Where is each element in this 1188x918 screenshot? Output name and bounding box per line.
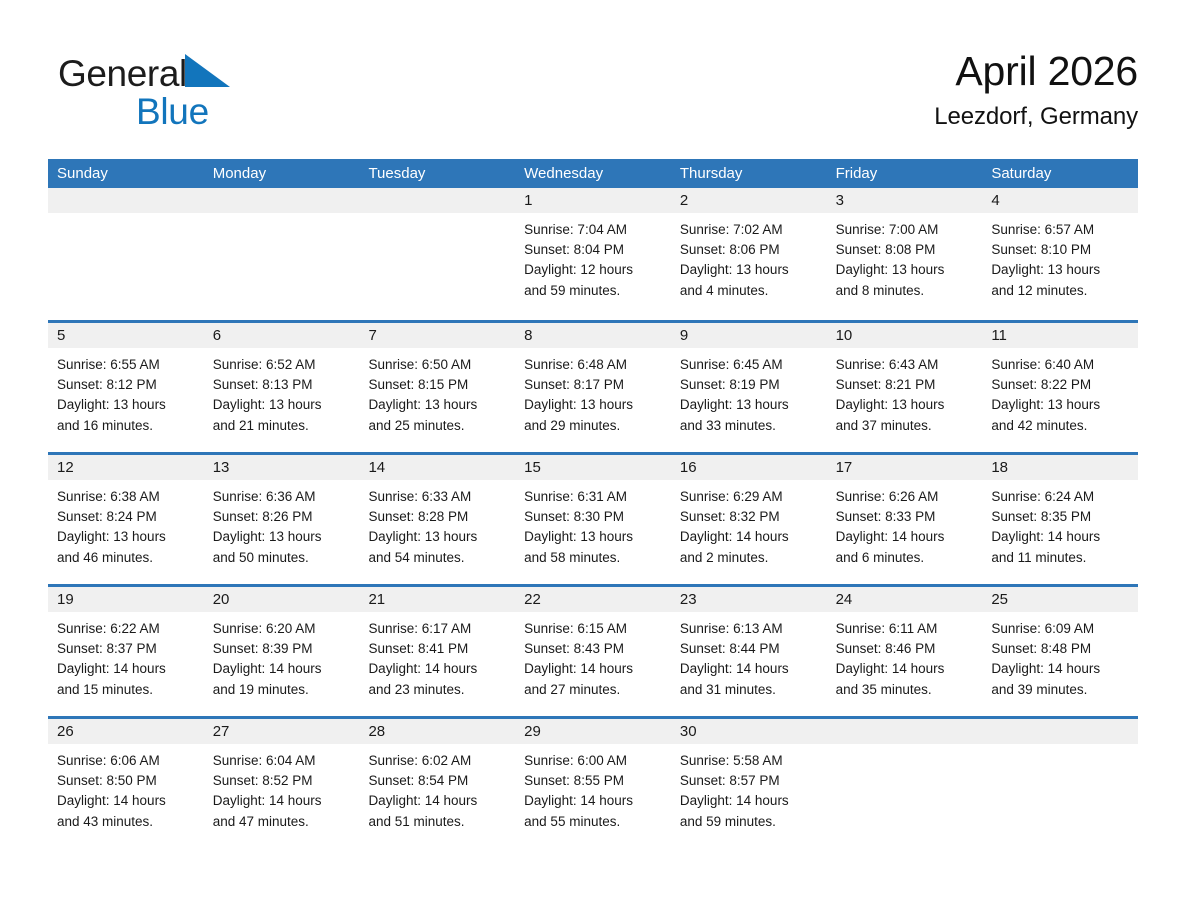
sunset-text: Sunset: 8:52 PM: [213, 771, 352, 791]
calendar-day-cell[interactable]: 12Sunrise: 6:38 AMSunset: 8:24 PMDayligh…: [48, 455, 204, 584]
day-details: Sunrise: 6:26 AMSunset: 8:33 PMDaylight:…: [827, 480, 983, 568]
weekday-header-monday: Monday: [204, 159, 360, 188]
calendar-day-cell[interactable]: 21Sunrise: 6:17 AMSunset: 8:41 PMDayligh…: [359, 587, 515, 716]
day-number: 20: [204, 587, 360, 612]
sunrise-text: Sunrise: 6:40 AM: [991, 355, 1130, 375]
day-details: Sunrise: 6:13 AMSunset: 8:44 PMDaylight:…: [671, 612, 827, 700]
calendar-week-row: 19Sunrise: 6:22 AMSunset: 8:37 PMDayligh…: [48, 584, 1138, 716]
daylight-text-line2: and 46 minutes.: [57, 548, 196, 568]
logo-word-blue: Blue: [136, 90, 209, 134]
sunset-text: Sunset: 8:43 PM: [524, 639, 663, 659]
sunset-text: Sunset: 8:35 PM: [991, 507, 1130, 527]
daylight-text-line2: and 6 minutes.: [836, 548, 975, 568]
day-number: 7: [359, 323, 515, 348]
day-details: Sunrise: 6:11 AMSunset: 8:46 PMDaylight:…: [827, 612, 983, 700]
day-number: 21: [359, 587, 515, 612]
daylight-text-line1: Daylight: 13 hours: [991, 260, 1130, 280]
sunset-text: Sunset: 8:54 PM: [368, 771, 507, 791]
sunrise-text: Sunrise: 6:33 AM: [368, 487, 507, 507]
day-number: 2: [671, 188, 827, 213]
daylight-text-line2: and 25 minutes.: [368, 416, 507, 436]
day-number: 23: [671, 587, 827, 612]
calendar-day-cell[interactable]: 20Sunrise: 6:20 AMSunset: 8:39 PMDayligh…: [204, 587, 360, 716]
sunrise-text: Sunrise: 6:22 AM: [57, 619, 196, 639]
daylight-text-line1: Daylight: 14 hours: [836, 527, 975, 547]
day-number: 12: [48, 455, 204, 480]
calendar-day-cell[interactable]: 15Sunrise: 6:31 AMSunset: 8:30 PMDayligh…: [515, 455, 671, 584]
sunset-text: Sunset: 8:04 PM: [524, 240, 663, 260]
day-number: 9: [671, 323, 827, 348]
daylight-text-line1: Daylight: 14 hours: [680, 791, 819, 811]
daylight-text-line2: and 58 minutes.: [524, 548, 663, 568]
daylight-text-line2: and 16 minutes.: [57, 416, 196, 436]
sunrise-text: Sunrise: 6:50 AM: [368, 355, 507, 375]
sunset-text: Sunset: 8:33 PM: [836, 507, 975, 527]
daylight-text-line1: Daylight: 13 hours: [680, 260, 819, 280]
day-number: 27: [204, 719, 360, 744]
calendar-day-cell[interactable]: 28Sunrise: 6:02 AMSunset: 8:54 PMDayligh…: [359, 719, 515, 848]
calendar-week-row: 12Sunrise: 6:38 AMSunset: 8:24 PMDayligh…: [48, 452, 1138, 584]
day-number: 15: [515, 455, 671, 480]
day-number: 18: [982, 455, 1138, 480]
daylight-text-line2: and 42 minutes.: [991, 416, 1130, 436]
weekday-header-thursday: Thursday: [671, 159, 827, 188]
sunrise-text: Sunrise: 6:17 AM: [368, 619, 507, 639]
general-blue-logo: General Blue: [58, 52, 318, 138]
daylight-text-line1: Daylight: 13 hours: [836, 395, 975, 415]
sunset-text: Sunset: 8:44 PM: [680, 639, 819, 659]
day-number: [48, 188, 204, 213]
weekday-header-sunday: Sunday: [48, 159, 204, 188]
day-details: Sunrise: 6:02 AMSunset: 8:54 PMDaylight:…: [359, 744, 515, 832]
calendar-day-cell[interactable]: 27Sunrise: 6:04 AMSunset: 8:52 PMDayligh…: [204, 719, 360, 848]
calendar-day-cell[interactable]: 24Sunrise: 6:11 AMSunset: 8:46 PMDayligh…: [827, 587, 983, 716]
logo-word-general: General: [58, 53, 187, 94]
daylight-text-line1: Daylight: 13 hours: [991, 395, 1130, 415]
daylight-text-line1: Daylight: 12 hours: [524, 260, 663, 280]
day-details: Sunrise: 6:38 AMSunset: 8:24 PMDaylight:…: [48, 480, 204, 568]
day-details: Sunrise: 7:02 AMSunset: 8:06 PMDaylight:…: [671, 213, 827, 301]
daylight-text-line2: and 43 minutes.: [57, 812, 196, 832]
daylight-text-line1: Daylight: 13 hours: [836, 260, 975, 280]
daylight-text-line1: Daylight: 14 hours: [213, 659, 352, 679]
sunrise-text: Sunrise: 7:00 AM: [836, 220, 975, 240]
daylight-text-line2: and 8 minutes.: [836, 281, 975, 301]
daylight-text-line2: and 11 minutes.: [991, 548, 1130, 568]
sunset-text: Sunset: 8:22 PM: [991, 375, 1130, 395]
day-number: 26: [48, 719, 204, 744]
daylight-text-line2: and 27 minutes.: [524, 680, 663, 700]
calendar-day-cell[interactable]: 7Sunrise: 6:50 AMSunset: 8:15 PMDaylight…: [359, 323, 515, 452]
day-details: Sunrise: 6:57 AMSunset: 8:10 PMDaylight:…: [982, 213, 1138, 301]
day-details: Sunrise: 6:24 AMSunset: 8:35 PMDaylight:…: [982, 480, 1138, 568]
day-details: Sunrise: 6:40 AMSunset: 8:22 PMDaylight:…: [982, 348, 1138, 436]
calendar-day-cell-empty: [359, 188, 515, 320]
daylight-text-line1: Daylight: 13 hours: [524, 395, 663, 415]
calendar-day-cell[interactable]: 18Sunrise: 6:24 AMSunset: 8:35 PMDayligh…: [982, 455, 1138, 584]
calendar-grid: SundayMondayTuesdayWednesdayThursdayFrid…: [48, 159, 1138, 848]
calendar-day-cell[interactable]: 6Sunrise: 6:52 AMSunset: 8:13 PMDaylight…: [204, 323, 360, 452]
sunrise-text: Sunrise: 6:36 AM: [213, 487, 352, 507]
daylight-text-line2: and 55 minutes.: [524, 812, 663, 832]
sunrise-text: Sunrise: 6:15 AM: [524, 619, 663, 639]
calendar-day-cell[interactable]: 13Sunrise: 6:36 AMSunset: 8:26 PMDayligh…: [204, 455, 360, 584]
sunset-text: Sunset: 8:46 PM: [836, 639, 975, 659]
weekday-header-row: SundayMondayTuesdayWednesdayThursdayFrid…: [48, 159, 1138, 188]
sunrise-text: Sunrise: 6:00 AM: [524, 751, 663, 771]
day-number: 14: [359, 455, 515, 480]
daylight-text-line1: Daylight: 13 hours: [368, 527, 507, 547]
day-details: Sunrise: 6:45 AMSunset: 8:19 PMDaylight:…: [671, 348, 827, 436]
day-details: Sunrise: 6:00 AMSunset: 8:55 PMDaylight:…: [515, 744, 671, 832]
day-number: 10: [827, 323, 983, 348]
daylight-text-line2: and 15 minutes.: [57, 680, 196, 700]
sunset-text: Sunset: 8:26 PM: [213, 507, 352, 527]
daylight-text-line2: and 23 minutes.: [368, 680, 507, 700]
day-details: Sunrise: 6:33 AMSunset: 8:28 PMDaylight:…: [359, 480, 515, 568]
sunrise-text: Sunrise: 6:48 AM: [524, 355, 663, 375]
calendar-day-cell[interactable]: 9Sunrise: 6:45 AMSunset: 8:19 PMDaylight…: [671, 323, 827, 452]
day-details: Sunrise: 6:36 AMSunset: 8:26 PMDaylight:…: [204, 480, 360, 568]
daylight-text-line1: Daylight: 14 hours: [57, 659, 196, 679]
calendar-day-cell[interactable]: 3Sunrise: 7:00 AMSunset: 8:08 PMDaylight…: [827, 188, 983, 320]
day-details: Sunrise: 6:20 AMSunset: 8:39 PMDaylight:…: [204, 612, 360, 700]
weekday-header-saturday: Saturday: [982, 159, 1138, 188]
day-details: Sunrise: 6:29 AMSunset: 8:32 PMDaylight:…: [671, 480, 827, 568]
daylight-text-line2: and 2 minutes.: [680, 548, 819, 568]
sunset-text: Sunset: 8:15 PM: [368, 375, 507, 395]
day-details: Sunrise: 6:50 AMSunset: 8:15 PMDaylight:…: [359, 348, 515, 436]
page-subtitle: Leezdorf, Germany: [934, 100, 1138, 134]
sunrise-text: Sunrise: 6:38 AM: [57, 487, 196, 507]
calendar-week-row: 26Sunrise: 6:06 AMSunset: 8:50 PMDayligh…: [48, 716, 1138, 848]
day-number: 19: [48, 587, 204, 612]
sunset-text: Sunset: 8:37 PM: [57, 639, 196, 659]
calendar-day-cell-empty: [827, 719, 983, 848]
day-details: Sunrise: 6:31 AMSunset: 8:30 PMDaylight:…: [515, 480, 671, 568]
day-number: 8: [515, 323, 671, 348]
sunrise-text: Sunrise: 7:02 AM: [680, 220, 819, 240]
daylight-text-line1: Daylight: 13 hours: [213, 527, 352, 547]
calendar-day-cell[interactable]: 1Sunrise: 7:04 AMSunset: 8:04 PMDaylight…: [515, 188, 671, 320]
calendar-day-cell[interactable]: 26Sunrise: 6:06 AMSunset: 8:50 PMDayligh…: [48, 719, 204, 848]
daylight-text-line2: and 47 minutes.: [213, 812, 352, 832]
day-details: Sunrise: 6:52 AMSunset: 8:13 PMDaylight:…: [204, 348, 360, 436]
daylight-text-line1: Daylight: 14 hours: [836, 659, 975, 679]
calendar-day-cell[interactable]: 4Sunrise: 6:57 AMSunset: 8:10 PMDaylight…: [982, 188, 1138, 320]
page-title: April 2026: [934, 44, 1138, 98]
sunrise-text: Sunrise: 6:02 AM: [368, 751, 507, 771]
daylight-text-line1: Daylight: 14 hours: [213, 791, 352, 811]
daylight-text-line2: and 21 minutes.: [213, 416, 352, 436]
sunset-text: Sunset: 8:28 PM: [368, 507, 507, 527]
sunrise-text: Sunrise: 6:24 AM: [991, 487, 1130, 507]
day-number: 29: [515, 719, 671, 744]
sunrise-text: Sunrise: 6:43 AM: [836, 355, 975, 375]
day-details: Sunrise: 6:15 AMSunset: 8:43 PMDaylight:…: [515, 612, 671, 700]
sunrise-text: Sunrise: 7:04 AM: [524, 220, 663, 240]
sunrise-text: Sunrise: 6:31 AM: [524, 487, 663, 507]
sunset-text: Sunset: 8:08 PM: [836, 240, 975, 260]
sunrise-text: Sunrise: 6:45 AM: [680, 355, 819, 375]
day-details: Sunrise: 6:55 AMSunset: 8:12 PMDaylight:…: [48, 348, 204, 436]
sunset-text: Sunset: 8:57 PM: [680, 771, 819, 791]
day-number: [204, 188, 360, 213]
day-number: 22: [515, 587, 671, 612]
daylight-text-line1: Daylight: 14 hours: [57, 791, 196, 811]
triangle-logo-icon: [185, 54, 230, 87]
calendar-day-cell[interactable]: 14Sunrise: 6:33 AMSunset: 8:28 PMDayligh…: [359, 455, 515, 584]
day-number: [827, 719, 983, 744]
sunset-text: Sunset: 8:48 PM: [991, 639, 1130, 659]
sunrise-text: Sunrise: 6:57 AM: [991, 220, 1130, 240]
sunrise-text: Sunrise: 6:52 AM: [213, 355, 352, 375]
day-details: Sunrise: 6:09 AMSunset: 8:48 PMDaylight:…: [982, 612, 1138, 700]
calendar-day-cell[interactable]: 11Sunrise: 6:40 AMSunset: 8:22 PMDayligh…: [982, 323, 1138, 452]
weekday-header-wednesday: Wednesday: [515, 159, 671, 188]
sunset-text: Sunset: 8:12 PM: [57, 375, 196, 395]
calendar-day-cell[interactable]: 23Sunrise: 6:13 AMSunset: 8:44 PMDayligh…: [671, 587, 827, 716]
day-details: Sunrise: 6:22 AMSunset: 8:37 PMDaylight:…: [48, 612, 204, 700]
day-details: Sunrise: 7:04 AMSunset: 8:04 PMDaylight:…: [515, 213, 671, 301]
calendar-day-cell[interactable]: 2Sunrise: 7:02 AMSunset: 8:06 PMDaylight…: [671, 188, 827, 320]
calendar-day-cell-empty: [204, 188, 360, 320]
daylight-text-line2: and 35 minutes.: [836, 680, 975, 700]
day-number: [359, 188, 515, 213]
sunset-text: Sunset: 8:39 PM: [213, 639, 352, 659]
daylight-text-line2: and 12 minutes.: [991, 281, 1130, 301]
calendar-day-cell[interactable]: 29Sunrise: 6:00 AMSunset: 8:55 PMDayligh…: [515, 719, 671, 848]
calendar-weeks: 1Sunrise: 7:04 AMSunset: 8:04 PMDaylight…: [48, 188, 1138, 848]
sunrise-text: Sunrise: 6:04 AM: [213, 751, 352, 771]
daylight-text-line1: Daylight: 14 hours: [524, 791, 663, 811]
day-number: 16: [671, 455, 827, 480]
daylight-text-line1: Daylight: 14 hours: [991, 527, 1130, 547]
calendar-day-cell[interactable]: 10Sunrise: 6:43 AMSunset: 8:21 PMDayligh…: [827, 323, 983, 452]
day-number: 5: [48, 323, 204, 348]
day-number: 17: [827, 455, 983, 480]
day-number: 30: [671, 719, 827, 744]
sunset-text: Sunset: 8:13 PM: [213, 375, 352, 395]
day-details: Sunrise: 6:06 AMSunset: 8:50 PMDaylight:…: [48, 744, 204, 832]
day-details: Sunrise: 6:17 AMSunset: 8:41 PMDaylight:…: [359, 612, 515, 700]
daylight-text-line1: Daylight: 13 hours: [368, 395, 507, 415]
sunrise-text: Sunrise: 6:26 AM: [836, 487, 975, 507]
daylight-text-line2: and 33 minutes.: [680, 416, 819, 436]
day-details: Sunrise: 6:04 AMSunset: 8:52 PMDaylight:…: [204, 744, 360, 832]
day-number: 25: [982, 587, 1138, 612]
sunrise-text: Sunrise: 6:13 AM: [680, 619, 819, 639]
daylight-text-line1: Daylight: 14 hours: [368, 791, 507, 811]
day-details: Sunrise: 6:43 AMSunset: 8:21 PMDaylight:…: [827, 348, 983, 436]
daylight-text-line2: and 51 minutes.: [368, 812, 507, 832]
daylight-text-line2: and 37 minutes.: [836, 416, 975, 436]
daylight-text-line1: Daylight: 13 hours: [57, 395, 196, 415]
day-number: 13: [204, 455, 360, 480]
day-details: Sunrise: 5:58 AMSunset: 8:57 PMDaylight:…: [671, 744, 827, 832]
daylight-text-line2: and 29 minutes.: [524, 416, 663, 436]
daylight-text-line2: and 19 minutes.: [213, 680, 352, 700]
calendar-page: General Blue April 2026 Leezdorf, German…: [0, 0, 1188, 918]
sunset-text: Sunset: 8:50 PM: [57, 771, 196, 791]
day-number: 28: [359, 719, 515, 744]
calendar-day-cell[interactable]: 30Sunrise: 5:58 AMSunset: 8:57 PMDayligh…: [671, 719, 827, 848]
sunrise-text: Sunrise: 6:06 AM: [57, 751, 196, 771]
day-number: 24: [827, 587, 983, 612]
daylight-text-line1: Daylight: 14 hours: [524, 659, 663, 679]
day-number: 4: [982, 188, 1138, 213]
sunset-text: Sunset: 8:32 PM: [680, 507, 819, 527]
sunset-text: Sunset: 8:41 PM: [368, 639, 507, 659]
weekday-header-friday: Friday: [827, 159, 983, 188]
calendar-day-cell[interactable]: 25Sunrise: 6:09 AMSunset: 8:48 PMDayligh…: [982, 587, 1138, 716]
calendar-week-row: 1Sunrise: 7:04 AMSunset: 8:04 PMDaylight…: [48, 188, 1138, 320]
calendar-day-cell-empty: [48, 188, 204, 320]
day-details: Sunrise: 6:48 AMSunset: 8:17 PMDaylight:…: [515, 348, 671, 436]
day-number: 1: [515, 188, 671, 213]
title-block: April 2026 Leezdorf, Germany: [934, 44, 1138, 134]
daylight-text-line1: Daylight: 14 hours: [368, 659, 507, 679]
day-details: Sunrise: 7:00 AMSunset: 8:08 PMDaylight:…: [827, 213, 983, 301]
calendar-day-cell[interactable]: 8Sunrise: 6:48 AMSunset: 8:17 PMDaylight…: [515, 323, 671, 452]
daylight-text-line1: Daylight: 13 hours: [213, 395, 352, 415]
daylight-text-line2: and 59 minutes.: [524, 281, 663, 301]
sunrise-text: Sunrise: 5:58 AM: [680, 751, 819, 771]
calendar-day-cell[interactable]: 17Sunrise: 6:26 AMSunset: 8:33 PMDayligh…: [827, 455, 983, 584]
sunrise-text: Sunrise: 6:20 AM: [213, 619, 352, 639]
daylight-text-line2: and 39 minutes.: [991, 680, 1130, 700]
daylight-text-line2: and 59 minutes.: [680, 812, 819, 832]
sunset-text: Sunset: 8:30 PM: [524, 507, 663, 527]
daylight-text-line1: Daylight: 13 hours: [57, 527, 196, 547]
sunset-text: Sunset: 8:24 PM: [57, 507, 196, 527]
calendar-day-cell[interactable]: 5Sunrise: 6:55 AMSunset: 8:12 PMDaylight…: [48, 323, 204, 452]
day-number: 3: [827, 188, 983, 213]
daylight-text-line2: and 31 minutes.: [680, 680, 819, 700]
sunset-text: Sunset: 8:21 PM: [836, 375, 975, 395]
weekday-header-tuesday: Tuesday: [359, 159, 515, 188]
day-number: [982, 719, 1138, 744]
page-header: General Blue April 2026 Leezdorf, German…: [48, 44, 1138, 152]
calendar-day-cell-empty: [982, 719, 1138, 848]
sunset-text: Sunset: 8:19 PM: [680, 375, 819, 395]
daylight-text-line2: and 50 minutes.: [213, 548, 352, 568]
sunset-text: Sunset: 8:10 PM: [991, 240, 1130, 260]
sunrise-text: Sunrise: 6:29 AM: [680, 487, 819, 507]
calendar-day-cell[interactable]: 16Sunrise: 6:29 AMSunset: 8:32 PMDayligh…: [671, 455, 827, 584]
daylight-text-line1: Daylight: 14 hours: [680, 659, 819, 679]
daylight-text-line1: Daylight: 13 hours: [680, 395, 819, 415]
calendar-day-cell[interactable]: 22Sunrise: 6:15 AMSunset: 8:43 PMDayligh…: [515, 587, 671, 716]
daylight-text-line1: Daylight: 14 hours: [991, 659, 1130, 679]
daylight-text-line2: and 54 minutes.: [368, 548, 507, 568]
day-number: 6: [204, 323, 360, 348]
daylight-text-line2: and 4 minutes.: [680, 281, 819, 301]
sunset-text: Sunset: 8:17 PM: [524, 375, 663, 395]
daylight-text-line1: Daylight: 14 hours: [680, 527, 819, 547]
sunrise-text: Sunrise: 6:09 AM: [991, 619, 1130, 639]
sunset-text: Sunset: 8:06 PM: [680, 240, 819, 260]
calendar-day-cell[interactable]: 19Sunrise: 6:22 AMSunset: 8:37 PMDayligh…: [48, 587, 204, 716]
daylight-text-line1: Daylight: 13 hours: [524, 527, 663, 547]
day-number: 11: [982, 323, 1138, 348]
sunrise-text: Sunrise: 6:55 AM: [57, 355, 196, 375]
calendar-week-row: 5Sunrise: 6:55 AMSunset: 8:12 PMDaylight…: [48, 320, 1138, 452]
sunset-text: Sunset: 8:55 PM: [524, 771, 663, 791]
sunrise-text: Sunrise: 6:11 AM: [836, 619, 975, 639]
